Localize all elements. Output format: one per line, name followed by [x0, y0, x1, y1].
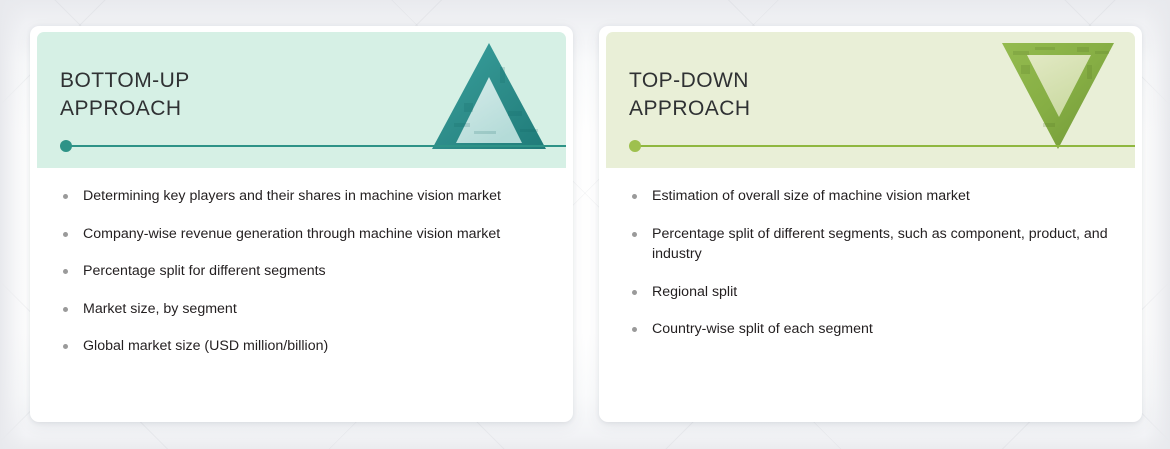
list-item-text: Country-wise split of each segment: [652, 321, 873, 337]
bullet-dot-icon: [632, 194, 637, 199]
card-body-bottom-up: Determining key players and their shares…: [30, 186, 573, 357]
list-item-text: Determining key players and their shares…: [83, 188, 501, 204]
bullet-list-top-down: Estimation of overall size of machine vi…: [624, 186, 1116, 340]
list-item: Market size, by segment: [55, 299, 547, 320]
list-item: Estimation of overall size of machine vi…: [624, 186, 1116, 207]
list-item-text: Percentage split for different segments: [83, 263, 326, 279]
list-item: Percentage split of different segments, …: [624, 224, 1116, 265]
bullet-dot-icon: [63, 307, 68, 312]
header-dot-bottom-up: [60, 140, 72, 152]
card-title-bottom-up: BOTTOM-UP APPROACH: [60, 67, 190, 123]
list-item: Percentage split for different segments: [55, 261, 547, 282]
bullet-dot-icon: [632, 290, 637, 295]
list-item-text: Estimation of overall size of machine vi…: [652, 188, 970, 204]
triangle-down-icon: [999, 37, 1117, 154]
list-item: Determining key players and their shares…: [55, 186, 547, 207]
bullet-dot-icon: [632, 232, 637, 237]
list-item-text: Global market size (USD million/billion): [83, 338, 328, 354]
card-header-bottom-up: BOTTOM-UP APPROACH: [37, 32, 566, 168]
bullet-dot-icon: [63, 269, 68, 274]
list-item-text: Regional split: [652, 284, 737, 300]
card-header-top-down: TOP-DOWN APPROACH: [606, 32, 1135, 168]
approach-comparison-board: BOTTOM-UP APPROACH: [0, 0, 1170, 449]
bullet-dot-icon: [63, 232, 68, 237]
header-rule-bottom-up: [68, 145, 566, 147]
card-title-top-down: TOP-DOWN APPROACH: [629, 67, 750, 123]
triangle-up-icon: [430, 37, 548, 154]
card-bottom-up-approach: BOTTOM-UP APPROACH: [30, 26, 573, 422]
list-item: Regional split: [624, 282, 1116, 303]
bullet-list-bottom-up: Determining key players and their shares…: [55, 186, 547, 357]
list-item: Company-wise revenue generation through …: [55, 224, 547, 245]
bullet-dot-icon: [63, 344, 68, 349]
bullet-dot-icon: [63, 194, 68, 199]
list-item-text: Percentage split of different segments, …: [652, 226, 1108, 263]
card-body-top-down: Estimation of overall size of machine vi…: [599, 186, 1142, 340]
card-top-down-approach: TOP-DOWN APPROACH: [599, 26, 1142, 422]
header-rule-top-down: [637, 145, 1135, 147]
list-item: Country-wise split of each segment: [624, 319, 1116, 340]
list-item: Global market size (USD million/billion): [55, 336, 547, 357]
bullet-dot-icon: [632, 327, 637, 332]
list-item-text: Market size, by segment: [83, 301, 237, 317]
list-item-text: Company-wise revenue generation through …: [83, 226, 500, 242]
header-dot-top-down: [629, 140, 641, 152]
